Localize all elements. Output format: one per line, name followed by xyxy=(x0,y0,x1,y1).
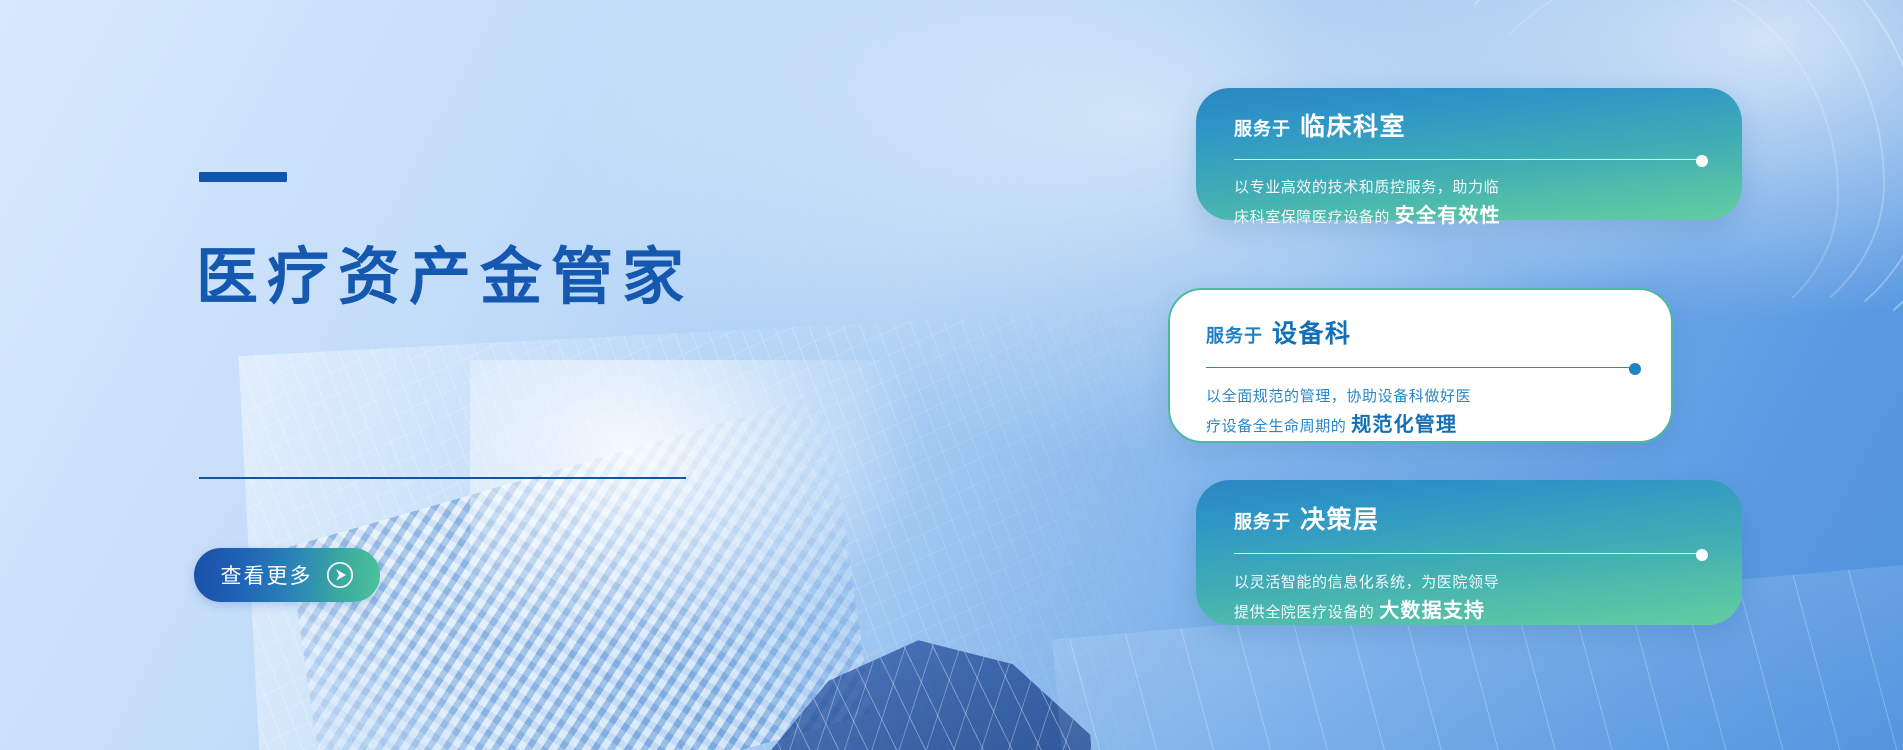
card-prefix: 服务于 xyxy=(1234,508,1291,534)
card-description-line2: 床科室保障医疗设备的 安全有效性 xyxy=(1234,202,1708,232)
card-description-line1: 以专业高效的技术和质控服务，助力临 xyxy=(1234,173,1708,202)
card-department: 决策层 xyxy=(1300,500,1380,536)
card-description-lead: 提供全院医疗设备的 xyxy=(1234,604,1374,621)
card-timeline xyxy=(1206,363,1641,372)
hero-banner: 医疗资产金管家 查看更多 服务于 临床科室 xyxy=(0,0,1903,750)
card-prefix: 服务于 xyxy=(1234,115,1291,141)
timeline-bar xyxy=(1234,159,1699,160)
card-department: 设备科 xyxy=(1272,314,1352,350)
card-description-line2: 提供全院医疗设备的 大数据支持 xyxy=(1234,597,1708,627)
card-description: 以专业高效的技术和质控服务，助力临 床科室保障医疗设备的 安全有效性 xyxy=(1234,173,1708,232)
card-description-highlight: 规范化管理 xyxy=(1351,414,1457,436)
timeline-bar xyxy=(1234,553,1699,554)
card-timeline xyxy=(1234,549,1708,558)
service-card-clinical[interactable]: 服务于 临床科室 以专业高效的技术和质控服务，助力临 床科室保障医疗设备的 安全… xyxy=(1196,88,1742,220)
timeline-dot-icon xyxy=(1629,363,1641,375)
card-description-highlight: 大数据支持 xyxy=(1379,600,1485,622)
card-heading: 服务于 决策层 xyxy=(1234,500,1708,536)
card-timeline xyxy=(1234,155,1708,164)
card-description: 以全面规范的管理，协助设备科做好医 疗设备全生命周期的 规范化管理 xyxy=(1206,382,1641,441)
card-heading: 服务于 设备科 xyxy=(1206,314,1641,350)
card-description-line2: 疗设备全生命周期的 规范化管理 xyxy=(1206,411,1641,441)
card-prefix: 服务于 xyxy=(1206,322,1263,348)
timeline-dot-icon xyxy=(1696,549,1708,561)
timeline-dot-icon xyxy=(1696,155,1708,167)
card-description-line1: 以全面规范的管理，协助设备科做好医 xyxy=(1206,382,1641,411)
timeline-bar xyxy=(1206,367,1632,368)
card-department: 临床科室 xyxy=(1300,107,1406,143)
card-description-highlight: 安全有效性 xyxy=(1395,205,1501,227)
card-description-lead: 床科室保障医疗设备的 xyxy=(1234,209,1390,226)
card-description-line1: 以灵活智能的信息化系统，为医院领导 xyxy=(1234,568,1708,597)
card-heading: 服务于 临床科室 xyxy=(1234,107,1708,143)
card-description-lead: 疗设备全生命周期的 xyxy=(1206,418,1346,435)
service-card-list: 服务于 临床科室 以专业高效的技术和质控服务，助力临 床科室保障医疗设备的 安全… xyxy=(0,0,1903,750)
service-card-equipment[interactable]: 服务于 设备科 以全面规范的管理，协助设备科做好医 疗设备全生命周期的 规范化管… xyxy=(1168,288,1673,443)
service-card-decision[interactable]: 服务于 决策层 以灵活智能的信息化系统，为医院领导 提供全院医疗设备的 大数据支… xyxy=(1196,480,1742,625)
card-description: 以灵活智能的信息化系统，为医院领导 提供全院医疗设备的 大数据支持 xyxy=(1234,568,1708,627)
